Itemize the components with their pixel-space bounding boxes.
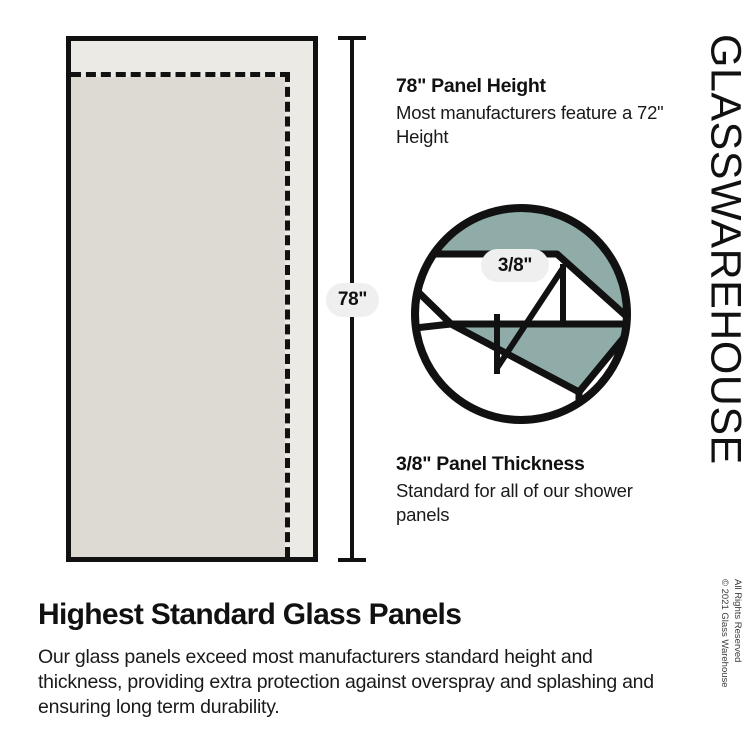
infographic-canvas: 78" 78" Panel Height Most manufacturers … <box>0 0 755 755</box>
callout-panel-thickness-body: Standard for all of our shower panels <box>396 479 676 526</box>
callout-panel-thickness-title: 3/8" Panel Thickness <box>396 452 676 476</box>
panel-thickness-badge: 3/8" <box>481 249 549 282</box>
footer-paragraph: Our glass panels exceed most manufacture… <box>38 645 663 720</box>
shower-panel-diagram <box>66 36 318 562</box>
brand-wordmark: GLASSWAREHOUSE <box>697 34 753 454</box>
brand-wordmark-text: GLASSWAREHOUSE <box>704 34 747 465</box>
footer-heading: Highest Standard Glass Panels <box>38 598 663 631</box>
callout-panel-thickness: 3/8" Panel Thickness Standard for all of… <box>396 452 676 527</box>
callout-panel-height: 78" Panel Height Most manufacturers feat… <box>396 74 676 149</box>
copyright-line-1: © 2021 Glass Warehouse <box>720 579 730 688</box>
panel-height-badge: 78" <box>326 283 379 317</box>
copyright-line-2: All Rights Reserved <box>733 579 743 662</box>
glass-edge-detail-svg <box>409 202 633 426</box>
callout-panel-height-body: Most manufacturers feature a 72" Height <box>396 101 676 148</box>
footer-copy-block: Highest Standard Glass Panels Our glass … <box>38 598 663 720</box>
panel-inner-fill <box>71 77 285 557</box>
dimension-cap-bottom <box>338 558 366 562</box>
glass-edge-detail-circle <box>409 202 633 426</box>
copyright-notice: © 2021 Glass Warehouse All Rights Reserv… <box>715 579 749 719</box>
callout-panel-height-title: 78" Panel Height <box>396 74 676 98</box>
